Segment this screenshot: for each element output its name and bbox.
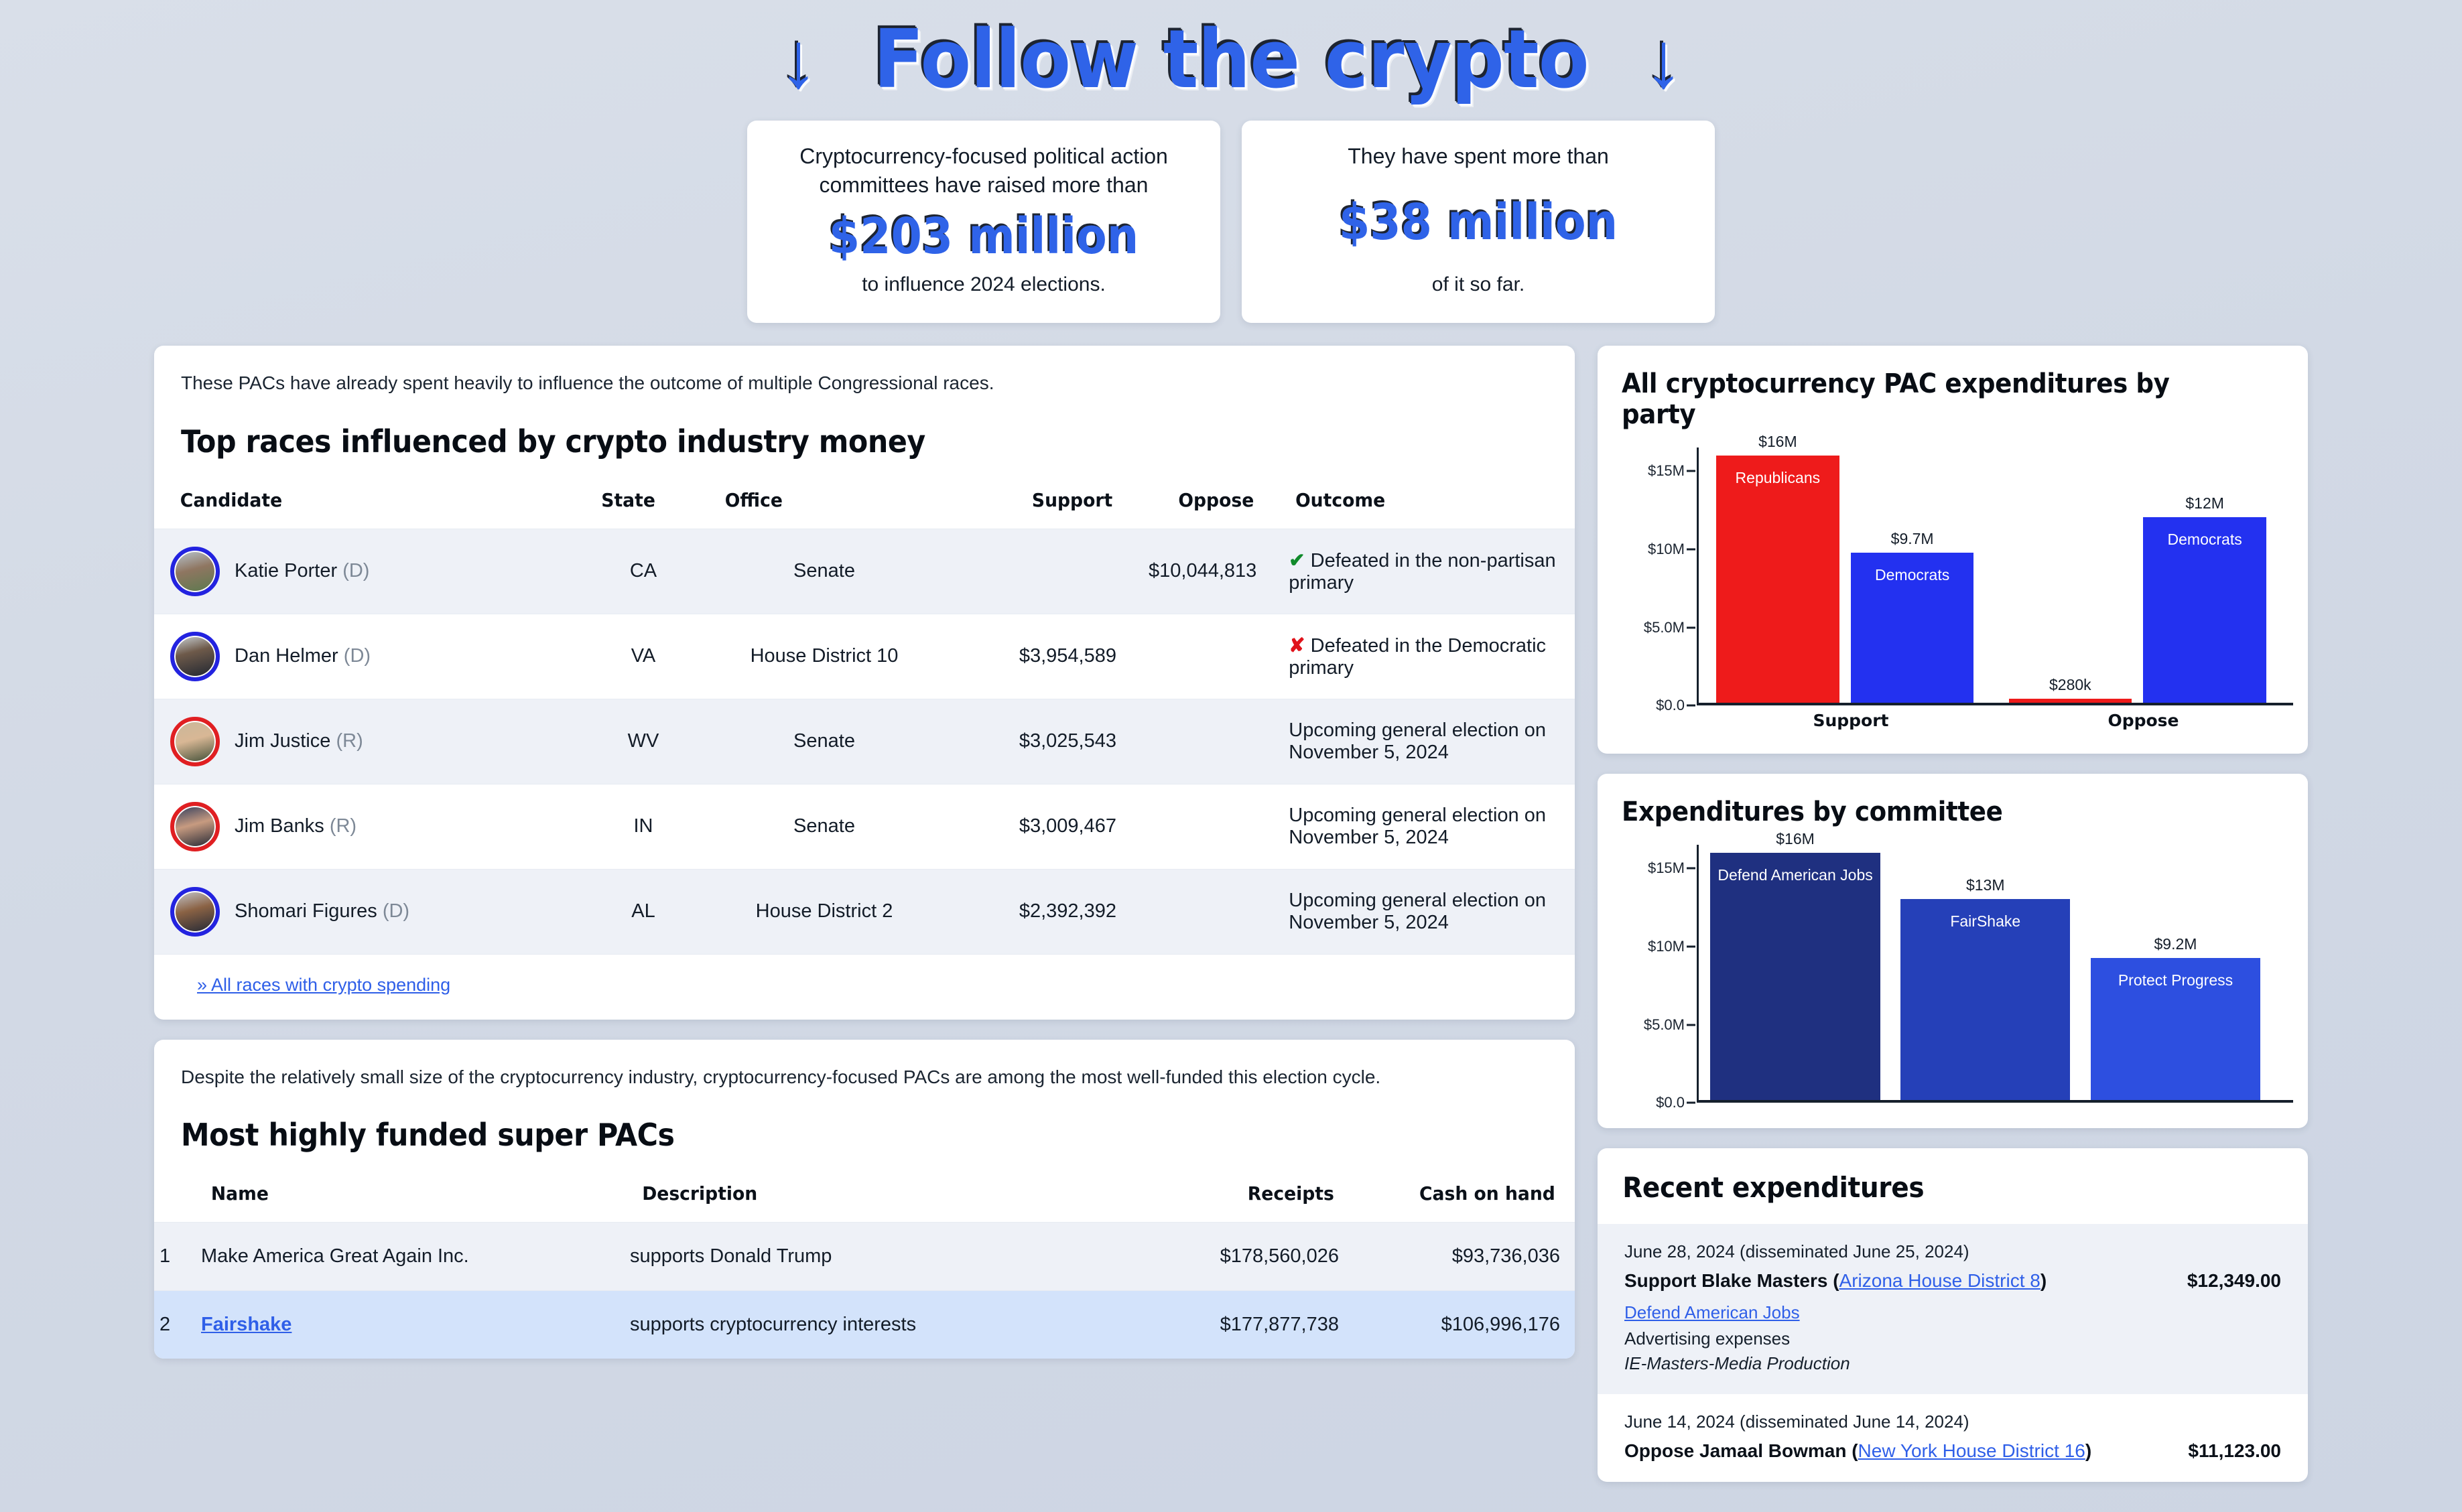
cell-state: AL [583,869,704,954]
party-chart-title: All cryptocurrency PAC expenditures by p… [1622,368,2238,430]
party-chart-bars: $16MRepublicans$9.7MDemocratsSupport$280… [1699,448,2284,703]
cell-support: $3,954,589 [945,614,1132,699]
stat-cards: Cryptocurrency-focused political action … [0,121,2462,323]
party-expenditures-chart-panel: All cryptocurrency PAC expenditures by p… [1598,346,2308,754]
candidate-party: (D) [344,645,371,667]
arrow-down-icon-right: ↓ [1644,21,1683,100]
cell-support [945,529,1132,614]
table-header-row: Candidate State Office Support Oppose Ou… [154,481,1575,529]
y-axis-tick: $5.0M [1644,619,1697,636]
bar-series-label: Democrats [2143,531,2266,549]
top-races-panel: These PACs have already spent heavily to… [154,346,1575,1019]
bar-value-label: $12M [2143,494,2266,517]
pac-name: Make America Great Again Inc. [201,1245,469,1267]
table-row[interactable]: Dan Helmer (D) VA House District 10 $3,9… [154,614,1575,699]
recent-action: Oppose Jamaal Bowman (New York House Dis… [1624,1440,2091,1462]
recent-headline: Support Blake Masters (Arizona House Dis… [1624,1270,2281,1292]
recent-date: June 14, 2024 (disseminated June 14, 202… [1624,1412,2281,1432]
recent-action: Support Blake Masters (Arizona House Dis… [1624,1270,2047,1292]
cell-state: CA [583,529,704,614]
super-pacs-header: Despite the relatively small size of the… [154,1040,1575,1153]
cell-office: Senate [704,784,945,869]
avatar [170,887,220,937]
table-row[interactable]: Shomari Figures (D) AL House District 2 … [154,869,1575,954]
cell-office: Senate [704,699,945,784]
stat-spent-caption: of it so far. [1269,273,1688,296]
cell-state: VA [583,614,704,699]
candidate-name: Jim Justice (R) [235,730,363,752]
cell-outcome: Upcoming general election on November 5,… [1273,784,1575,869]
cell-pac-cash: $106,996,176 [1354,1290,1575,1359]
right-column: All cryptocurrency PAC expenditures by p… [1598,346,2308,1502]
top-races-title: Top races influenced by crypto industry … [181,423,1452,460]
candidate-party: (D) [342,560,369,581]
col-candidate: Candidate [165,481,572,529]
col-support: Support [950,481,1128,529]
recent-expense-type: Advertising expenses [1624,1328,2281,1349]
bar: $13M FairShake [1900,899,2070,1100]
top-races-intro: These PACs have already spent heavily to… [181,370,1548,396]
bar: $16MRepublicans [1716,456,1839,703]
cell-candidate: Shomari Figures (D) [154,869,583,954]
page-title: Follow the crypto [873,20,1588,100]
cell-oppose [1132,699,1273,784]
bar-value-label: $16M [1716,433,1839,456]
cell-support: $3,025,543 [945,699,1132,784]
cell-candidate: Jim Banks (R) [154,784,583,869]
recent-date: June 28, 2024 (disseminated June 25, 202… [1624,1241,2281,1262]
committee-chart-plot: $16M Defend American Jobs$13M FairShake$… [1697,845,2284,1103]
y-axis-tick: $10M [1648,938,1697,955]
cell-pac-receipts: $178,560,026 [1132,1222,1354,1290]
table-row[interactable]: 1 Make America Great Again Inc. supports… [154,1222,1575,1290]
y-axis-tick: $5.0M [1644,1016,1697,1034]
outcome-loss-icon: ✘ [1289,635,1305,657]
candidate-party: (R) [330,815,357,837]
col-rank [155,1174,186,1223]
table-row[interactable]: Katie Porter (D) CA Senate $10,044,813 ✔… [154,529,1575,614]
all-races-link-row: » All races with crypto spending [154,954,1575,1020]
candidate-party: (D) [383,900,409,922]
pac-name-link[interactable]: Fairshake [201,1314,291,1335]
bar: $16M Defend American Jobs [1710,853,1880,1100]
col-state: State [586,481,701,529]
super-pacs-title: Most highly funded super PACs [181,1117,1452,1153]
cell-oppose [1132,784,1273,869]
cell-oppose [1132,869,1273,954]
cell-office: House District 10 [704,614,945,699]
candidate-name: Shomari Figures (D) [235,900,409,922]
cell-rank: 2 [154,1290,186,1359]
stat-card-raised: Cryptocurrency-focused political action … [747,121,1220,323]
cell-outcome: Upcoming general election on November 5,… [1273,699,1575,784]
recent-amount: $12,349.00 [2187,1270,2281,1292]
cell-pac-name: Fairshake [186,1290,615,1359]
col-pac-cash: Cash on hand [1359,1174,1569,1223]
col-office: Office [710,481,939,529]
cell-candidate: Jim Justice (R) [154,699,583,784]
committee-chart-title: Expenditures by committee [1622,797,2238,827]
bar: $12MDemocrats [2143,517,2266,703]
candidate-name: Dan Helmer (D) [235,645,371,667]
avatar [170,802,220,851]
arrow-down-icon-left: ↓ [779,21,818,100]
main-content: These PACs have already spent heavily to… [0,323,2462,1502]
stat-spent-value: $38 million [1289,198,1667,247]
y-axis-tick: $10M [1648,541,1697,558]
y-axis-tick: $0.0 [1656,1094,1697,1111]
cell-state: WV [583,699,704,784]
avatar [170,547,220,596]
candidate-name: Katie Porter (D) [235,560,369,582]
stat-raised-value: $203 million [795,212,1172,261]
cell-pac-description: supports Donald Trump [615,1222,1132,1290]
page-header: ↓ Follow the crypto ↓ [0,0,2462,107]
cell-oppose [1132,614,1273,699]
cell-candidate: Katie Porter (D) [154,529,583,614]
cell-pac-name: Make America Great Again Inc. [186,1222,615,1290]
stat-raised-label: Cryptocurrency-focused political action … [774,142,1193,200]
stat-raised-caption: to influence 2024 elections. [774,273,1193,296]
cell-state: IN [583,784,704,869]
super-pacs-intro: Despite the relatively small size of the… [181,1064,1548,1090]
recent-expenditures-panel: Recent expenditures June 28, 2024 (disse… [1598,1148,2308,1482]
cell-pac-cash: $93,736,036 [1354,1222,1575,1290]
party-chart-plot: $16MRepublicans$9.7MDemocratsSupport$280… [1697,448,2284,705]
bar-value-label: $9.7M [1851,530,1973,553]
recent-expenditures-title: Recent expenditures [1598,1148,2258,1224]
bar-series-label: Democrats [1851,566,1973,584]
recent-race-link[interactable]: Arizona House District 8 [1839,1270,2040,1291]
super-pacs-table: Name Description Receipts Cash on hand 1… [154,1174,1575,1359]
hero-row: ↓ Follow the crypto ↓ [0,20,2462,100]
recent-expense-note: IE-Masters-Media Production [1624,1353,2281,1374]
col-oppose: Oppose [1136,481,1269,529]
top-races-header: These PACs have already spent heavily to… [154,346,1575,459]
cell-candidate: Dan Helmer (D) [154,614,583,699]
cell-oppose: $10,044,813 [1132,529,1273,614]
bar-value-label: $13M [1900,876,2070,899]
bar-value-label: $9.2M [2091,935,2260,958]
committee-chart-bars: $16M Defend American Jobs$13M FairShake$… [1699,845,2284,1100]
committee-chart-x-axis [1697,1100,2293,1103]
candidate-party: (R) [336,730,363,752]
col-pac-receipts: Receipts [1138,1174,1348,1223]
table-row[interactable]: Jim Banks (R) IN Senate $3,009,467 Upcom… [154,784,1575,869]
left-column: These PACs have already spent heavily to… [154,346,1575,1378]
bar-category-label: Defend American Jobs [1710,866,1880,884]
x-axis-category-label: Support [1716,703,1986,730]
bar-series-label: Republicans [1716,469,1839,487]
pacs-header-row: Name Description Receipts Cash on hand [154,1174,1575,1223]
stat-spent-label: They have spent more than [1269,142,1688,171]
y-axis-tick: $0.0 [1656,697,1697,714]
recent-committee-link[interactable]: Defend American Jobs [1624,1302,2281,1323]
cell-pac-receipts: $177,877,738 [1132,1290,1354,1359]
bar-value-label: $280k [2009,676,2132,699]
bar: $9.7MDemocrats [1851,553,1973,703]
bar-category-label: Protect Progress [2091,971,2260,989]
cell-office: House District 2 [704,869,945,954]
x-axis-category-label: Oppose [2009,703,2278,730]
col-outcome: Outcome [1281,481,1567,529]
avatar [170,632,220,681]
avatar [170,717,220,766]
cell-support: $2,392,392 [945,869,1132,954]
bar-category-label: FairShake [1900,912,2070,931]
candidate-name: Jim Banks (R) [235,815,357,837]
cell-support: $3,009,467 [945,784,1132,869]
col-pac-name: Name [197,1174,604,1223]
col-pac-description: Description [628,1174,1119,1223]
y-axis-tick: $15M [1648,860,1697,877]
y-axis-tick: $15M [1648,462,1697,480]
all-races-link[interactable]: » All races with crypto spending [197,975,450,995]
cell-outcome: Upcoming general election on November 5,… [1273,869,1575,954]
cell-rank: 1 [154,1222,186,1290]
cell-outcome: ✘ Defeated in the Democratic primary [1273,614,1575,699]
committee-expenditures-chart-panel: Expenditures by committee $16M Defend Am… [1598,774,2308,1128]
cell-office: Senate [704,529,945,614]
table-row[interactable]: 2 Fairshake supports cryptocurrency inte… [154,1290,1575,1359]
cell-outcome: ✔ Defeated in the non-partisan primary [1273,529,1575,614]
bar: $9.2M Protect Progress [2091,958,2260,1100]
recent-expenditure-item: June 14, 2024 (disseminated June 14, 202… [1598,1394,2308,1482]
recent-expenditure-item: June 28, 2024 (disseminated June 25, 202… [1598,1224,2308,1394]
recent-headline: Oppose Jamaal Bowman (New York House Dis… [1624,1440,2281,1462]
top-races-table: Candidate State Office Support Oppose Ou… [154,481,1575,954]
cell-pac-description: supports cryptocurrency interests [615,1290,1132,1359]
recent-race-link[interactable]: New York House District 16 [1858,1440,2085,1461]
outcome-win-icon: ✔ [1289,550,1305,571]
table-row[interactable]: Jim Justice (R) WV Senate $3,025,543 Upc… [154,699,1575,784]
super-pacs-panel: Despite the relatively small size of the… [154,1040,1575,1359]
recent-amount: $11,123.00 [2188,1440,2281,1462]
stat-card-spent: They have spent more than $38 million of… [1242,121,1715,323]
bar-value-label: $16M [1710,830,1880,853]
